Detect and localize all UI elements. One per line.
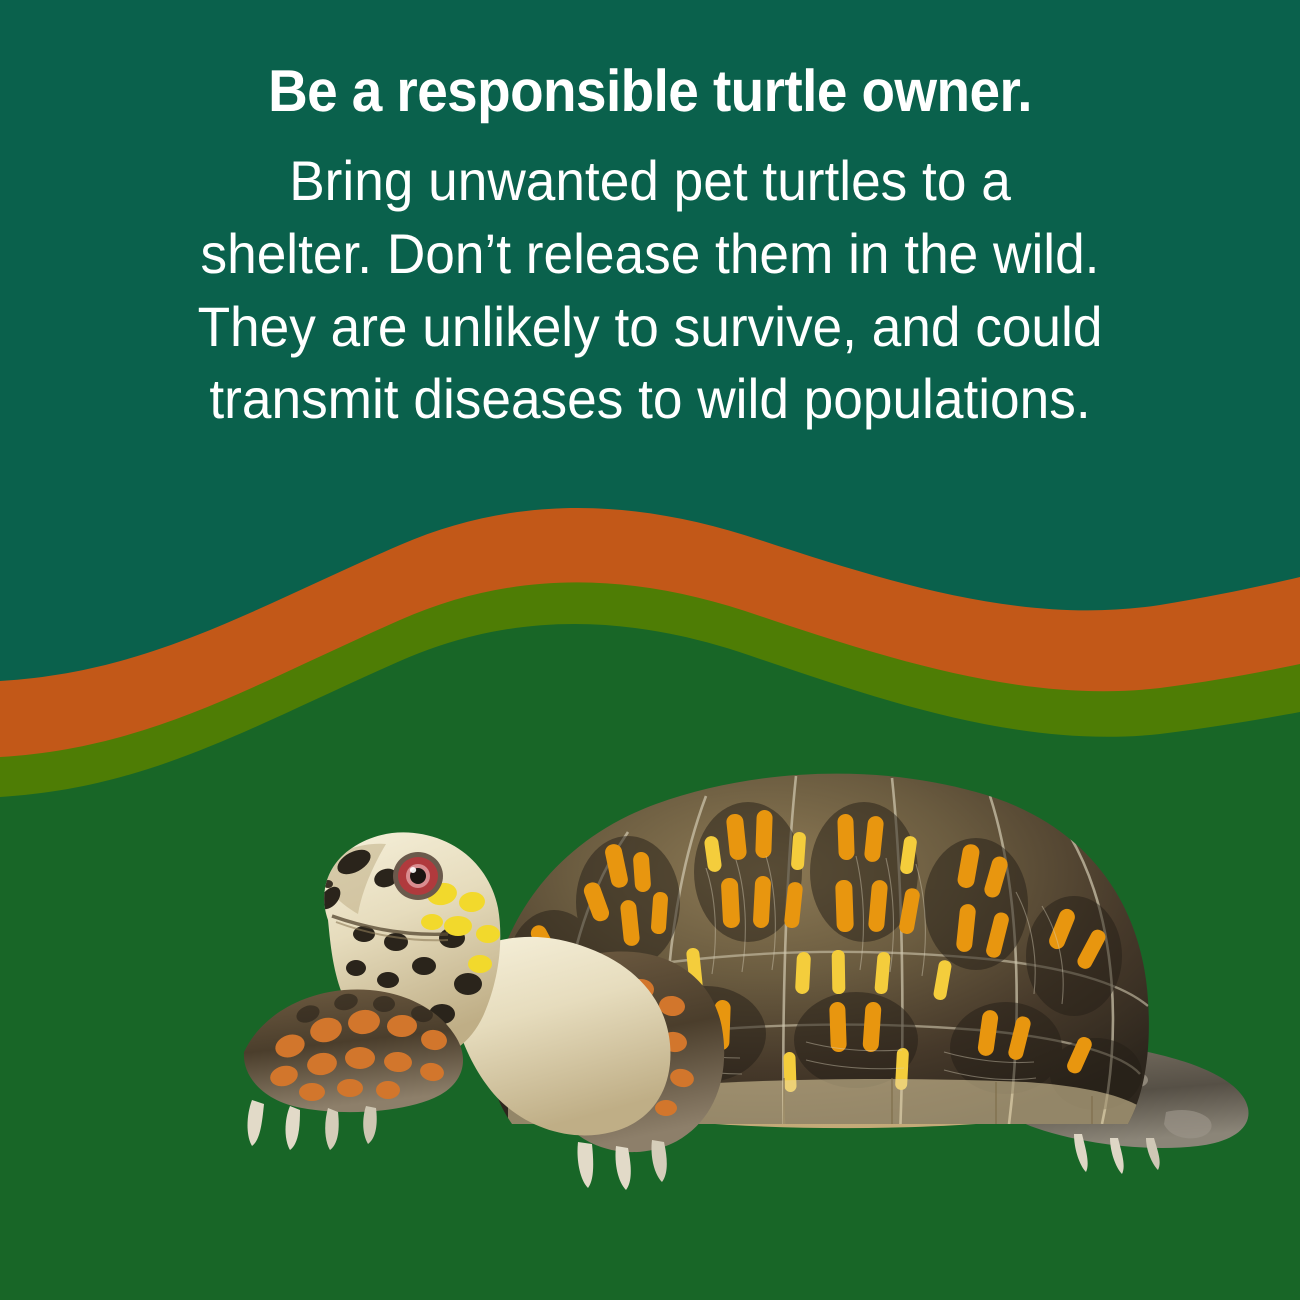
body-line: They are unlikely to survive, and could xyxy=(75,291,1225,364)
poster-canvas: Be a responsible turtle owner. Bring unw… xyxy=(0,0,1300,1300)
body-line: Bring unwanted pet turtles to a xyxy=(75,145,1225,218)
message-block: Be a responsible turtle owner. Bring unw… xyxy=(0,0,1300,436)
turtle-front-left-leg xyxy=(244,989,463,1150)
turtle-photo xyxy=(236,752,1266,1192)
turtle-eye xyxy=(393,852,443,900)
body-copy: Bring unwanted pet turtles to a shelter.… xyxy=(75,145,1225,436)
page-title: Be a responsible turtle owner. xyxy=(46,62,1255,121)
body-line: shelter. Don’t release them in the wild. xyxy=(75,218,1225,291)
body-line: transmit diseases to wild populations. xyxy=(75,363,1225,436)
